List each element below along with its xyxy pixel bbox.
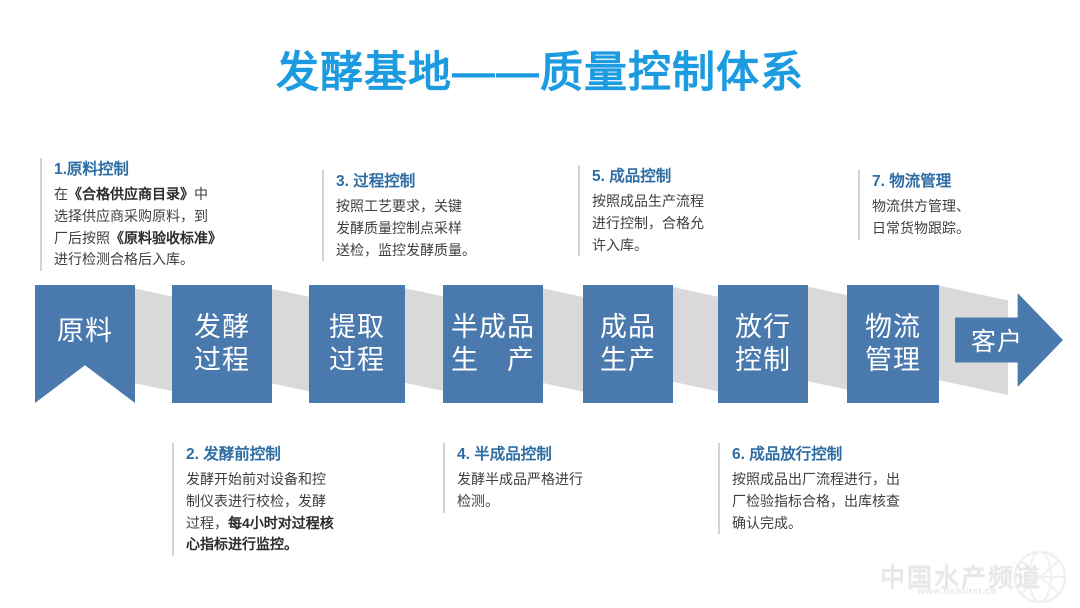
flow-step-label-line1: 原料 [57, 315, 113, 348]
note-heading: 5. 成品控制 [592, 165, 758, 188]
note-block-1: 1.原料控制 在《合格供应商目录》中选择供应商采购原料，到厂后按照《原料验收标准… [40, 158, 240, 271]
note-block-7: 7. 物流管理 物流供方管理、日常货物跟踪。 [858, 170, 1048, 240]
flow-step-release-control[interactable]: 放行 控制 [718, 285, 808, 403]
page-title: 发酵基地——质量控制体系 [0, 38, 1080, 100]
note-block-4: 4. 半成品控制 发酵半成品严格进行检测。 [443, 443, 643, 513]
flow-step-logistics-management[interactable]: 物流 管理 [847, 285, 939, 403]
note-block-6: 6. 成品放行控制 按照成品出厂流程进行，出厂检验指标合格，出库核查确认完成。 [718, 443, 943, 534]
flow-step-label-line1: 半成品 [451, 311, 535, 344]
note-body: 按照成品出厂流程进行，出厂检验指标合格，出库核查确认完成。 [732, 469, 943, 534]
note-block-2: 2. 发酵前控制 发酵开始前对设备和控制仪表进行校检，发酵过程，每4小时对过程核… [172, 443, 367, 556]
note-body: 物流供方管理、日常货物跟踪。 [872, 196, 1048, 239]
note-body: 按照工艺要求，关键发酵质量控制点采样送检，监控发酵质量。 [336, 196, 512, 261]
flow-step-extraction[interactable]: 提取 过程 [309, 285, 405, 403]
note-heading: 4. 半成品控制 [457, 443, 643, 466]
note-heading: 6. 成品放行控制 [732, 443, 943, 466]
flow-step-label-line2: 生 产 [451, 344, 535, 377]
note-body: 发酵半成品严格进行检测。 [457, 469, 643, 512]
flow-step-label-line2: 过程 [194, 344, 250, 377]
note-block-5: 5. 成品控制 按照成品生产流程进行控制，合格允许入库。 [578, 165, 758, 256]
flow-step-label-line1: 放行 [735, 311, 791, 344]
note-heading: 3. 过程控制 [336, 170, 512, 193]
flow-step-label-line1: 成品 [600, 311, 656, 344]
note-body: 在《合格供应商目录》中选择供应商采购原料，到厂后按照《原料验收标准》进行检测合格… [54, 184, 240, 271]
flow-step-semi-finished-production[interactable]: 半成品 生 产 [443, 285, 543, 403]
note-block-3: 3. 过程控制 按照工艺要求，关键发酵质量控制点采样送检，监控发酵质量。 [322, 170, 512, 261]
flow-end-arrow-label: 客户 [971, 322, 1023, 358]
flow-step-label-line1: 发酵 [194, 311, 250, 344]
note-heading: 2. 发酵前控制 [186, 443, 367, 466]
flow-step-fermentation[interactable]: 发酵 过程 [172, 285, 272, 403]
flow-step-label-line1: 物流 [865, 311, 921, 344]
flow-step-label-line2: 过程 [329, 344, 385, 377]
watermark-url: www.fishfirst.cn [918, 586, 997, 596]
note-heading: 7. 物流管理 [872, 170, 1048, 193]
watermark: 中国水产频道 www.fishfirst.cn [876, 548, 1072, 604]
flow-step-label-line2: 控制 [735, 344, 791, 377]
note-heading: 1.原料控制 [54, 158, 240, 181]
process-flow: 原料 发酵 过程 提取 过程 半成品 生 产 成品 生产 放行 控制 物流 管理… [0, 285, 1080, 410]
flow-step-label-line2: 管理 [865, 344, 921, 377]
flow-step-finished-production[interactable]: 成品 生产 [583, 285, 673, 403]
note-body: 按照成品生产流程进行控制，合格允许入库。 [592, 191, 758, 256]
note-body: 发酵开始前对设备和控制仪表进行校检，发酵过程，每4小时对过程核心指标进行监控。 [186, 469, 367, 556]
flow-step-label-line2: 生产 [600, 344, 656, 377]
flow-step-label-line1: 提取 [329, 311, 385, 344]
flow-step-raw-material[interactable]: 原料 [35, 285, 135, 403]
